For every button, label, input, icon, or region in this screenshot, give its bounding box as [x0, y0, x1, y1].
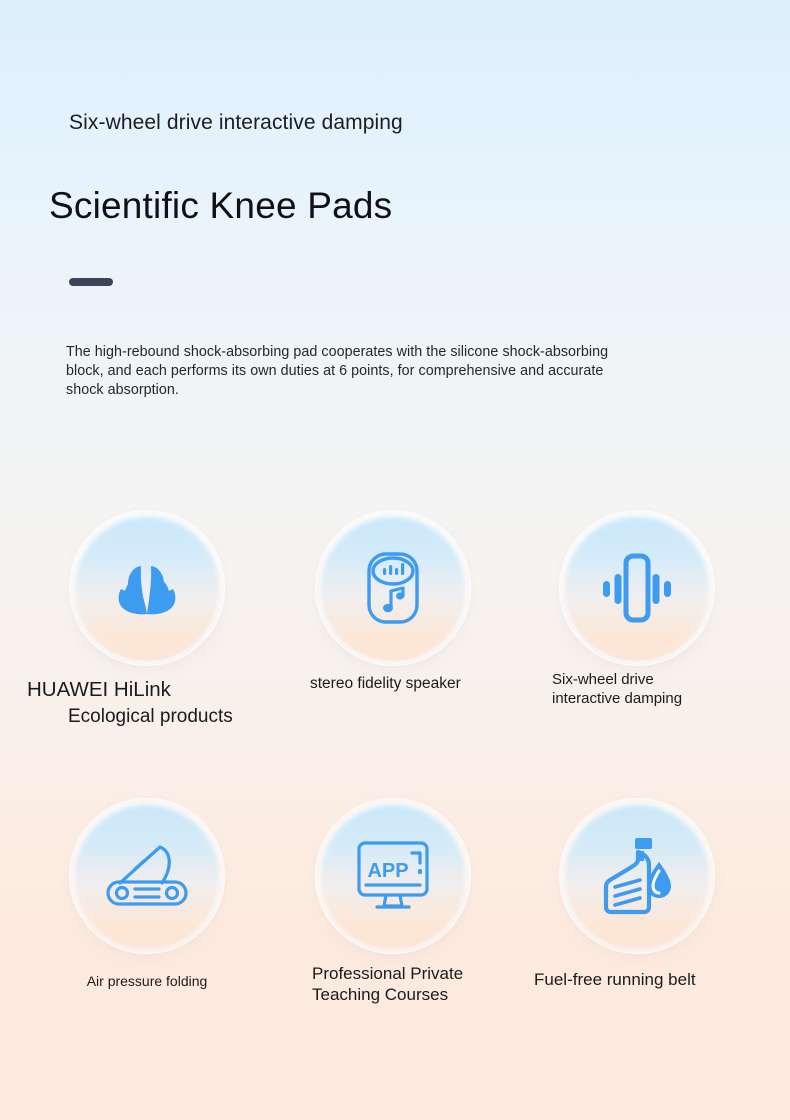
feature-item-interactive-damping: Six-wheel drive interactive damping: [512, 515, 762, 708]
feature-item-air-pressure-folding: Air pressure folding: [22, 803, 272, 991]
feature-caption: HUAWEI HiLink Ecological products: [22, 677, 272, 730]
feature-caption: Professional Private Teaching Courses: [268, 963, 518, 1005]
feature-caption: Fuel-free running belt: [512, 969, 762, 990]
folding-treadmill-icon: [102, 838, 192, 914]
feature-badge: [564, 803, 710, 949]
feature-caption-line-1: Fuel-free running belt: [534, 969, 762, 990]
feature-caption-line-1: Air pressure folding: [22, 971, 272, 991]
feature-caption-line-2: Ecological products: [22, 703, 272, 730]
feature-item-huawei-hilink: HUAWEI HiLink Ecological products: [22, 515, 272, 730]
feature-badge: [74, 803, 220, 949]
feature-caption-line-1: Six-wheel drive: [552, 671, 762, 690]
vibration-damping-icon: [595, 548, 679, 628]
product-feature-page: Six-wheel drive interactive damping Scie…: [0, 0, 790, 1120]
feature-item-teaching-courses: APP Professional Private Teaching Course…: [268, 803, 518, 1005]
feature-caption: stereo fidelity speaker: [268, 673, 518, 694]
feature-badge: [564, 515, 710, 661]
feature-caption: Six-wheel drive interactive damping: [512, 671, 762, 708]
feature-caption-line-1: stereo fidelity speaker: [310, 673, 518, 694]
feature-caption-line-2: interactive damping: [552, 690, 762, 709]
feature-caption: Air pressure folding: [22, 971, 272, 991]
feature-badge: [320, 515, 466, 661]
feature-badge: [74, 515, 220, 661]
feature-caption-line-2: Teaching Courses: [312, 984, 518, 1005]
feature-caption-line-1: Professional Private: [312, 963, 518, 984]
app-monitor-icon: APP: [352, 837, 434, 915]
app-screen-label: APP: [367, 860, 408, 882]
feature-item-stereo-speaker: stereo fidelity speaker: [268, 515, 518, 694]
feature-grid: HUAWEI HiLink Ecological products: [0, 0, 790, 1120]
huawei-flower-logo-icon: [105, 546, 189, 630]
feature-badge: APP: [320, 803, 466, 949]
feature-caption-line-1: HUAWEI HiLink: [22, 677, 272, 703]
oil-bottle-droplet-icon: [597, 835, 677, 917]
stereo-speaker-icon: [355, 546, 431, 630]
feature-item-fuel-free-belt: Fuel-free running belt: [512, 803, 762, 990]
